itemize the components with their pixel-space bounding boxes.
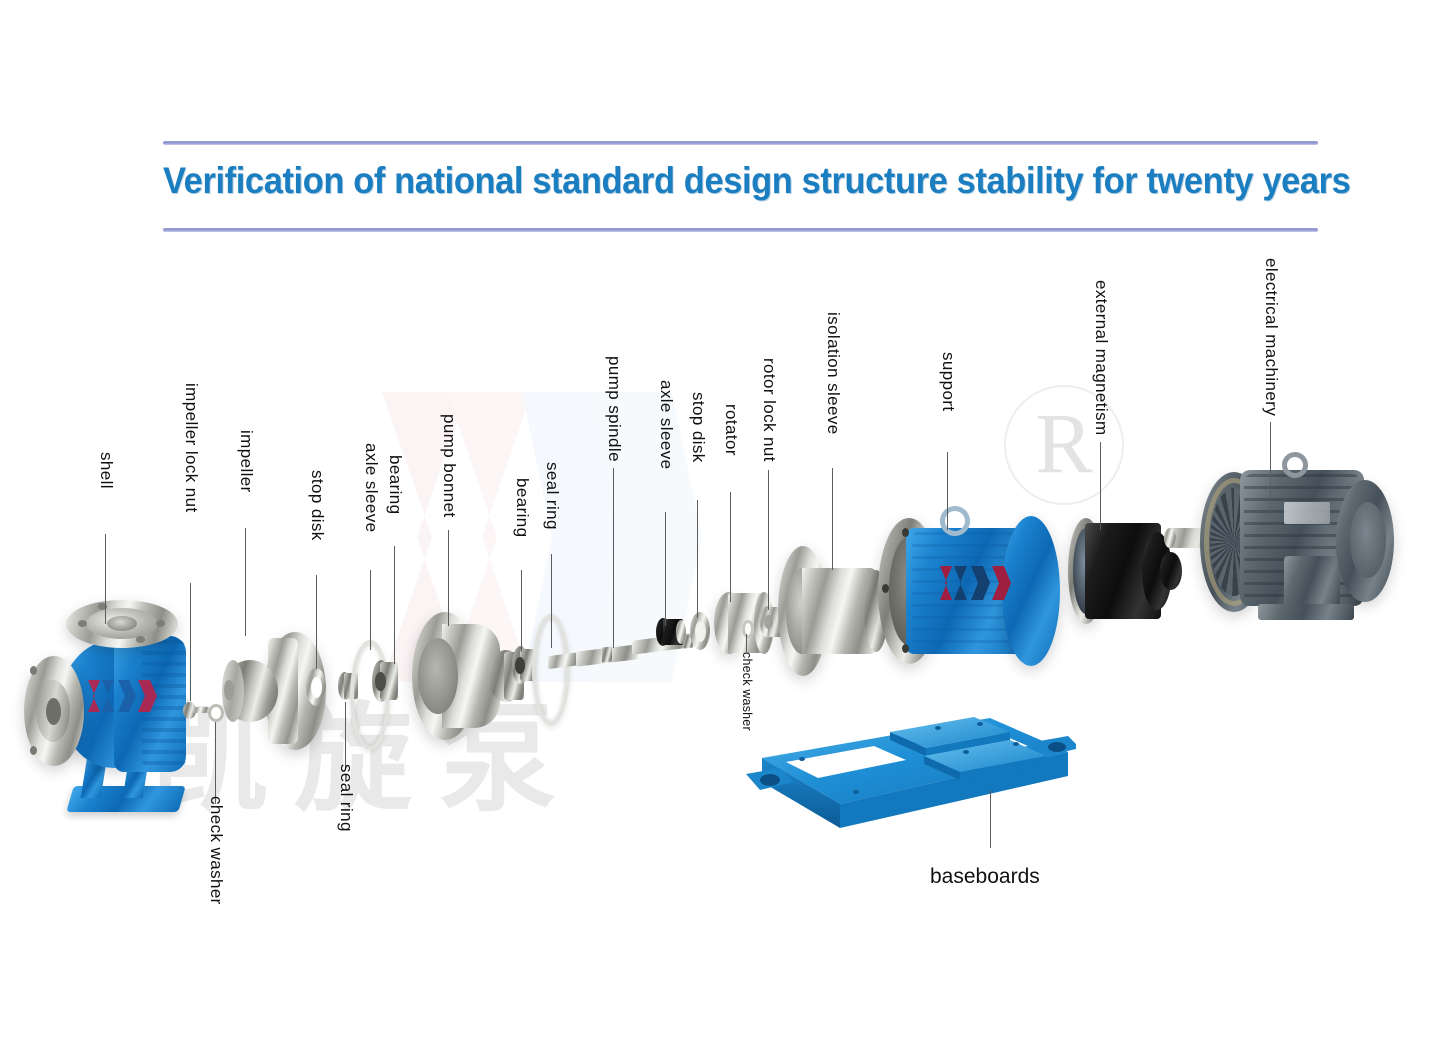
- title-rule-top: [163, 141, 1318, 145]
- leader-shell: [105, 534, 106, 624]
- label-electrical-machinery: electrical machinery: [1261, 258, 1281, 416]
- label-seal-ring-left: axle sleeve: [361, 443, 381, 532]
- part-electrical-machinery: [1168, 444, 1398, 634]
- label-external-magnetism: external magnetism: [1091, 280, 1111, 436]
- label-rotator: rotator: [721, 404, 741, 456]
- leader-external-magnetism: [1100, 442, 1101, 530]
- part-stop-disk-mid: [690, 612, 712, 650]
- label-impeller-lock-nut: impeller lock nut: [181, 383, 201, 513]
- part-baseboards: [728, 712, 1076, 862]
- label-shell: shell: [96, 452, 116, 489]
- leader-check-washer-mid: [746, 634, 747, 652]
- part-stop-disk-left: [306, 668, 326, 706]
- leader-stop-disk-left: [316, 575, 317, 669]
- leader-axle-sleeve-left: [345, 702, 346, 770]
- part-check-washer-mid: [742, 620, 756, 638]
- label-axle-sleeve-left: seal ring: [336, 764, 356, 832]
- diagram-canvas: Verification of national standard design…: [0, 0, 1440, 1040]
- label-impeller: impeller: [236, 430, 256, 493]
- leader-isolation-sleeve: [832, 468, 833, 570]
- part-impeller-lock-nut: [183, 700, 209, 722]
- part-isolation-sleeve: [778, 546, 894, 676]
- part-shell: [22, 588, 207, 858]
- label-stop-disk-left: stop disk: [307, 470, 327, 541]
- label-pump-bonnet: pump bonnet: [439, 414, 459, 518]
- label-isolation-sleeve: isolation sleeve: [823, 312, 843, 435]
- label-pump-spindle: pump spindle: [604, 356, 624, 462]
- leader-electrical-machinery: [1270, 422, 1271, 514]
- part-bearing-left: [372, 660, 404, 702]
- label-axle-sleeve-mid: axle sleeve: [656, 380, 676, 469]
- leader-seal-ring-mid: [551, 554, 552, 648]
- leader-axle-sleeve-mid: [665, 512, 666, 626]
- kx-logo-shell: [84, 676, 160, 716]
- label-seal-ring-mid: seal ring: [542, 462, 562, 530]
- leader-bearing-mid: [521, 570, 522, 652]
- leader-support: [947, 452, 948, 530]
- leader-rotor-lock-nut: [768, 470, 769, 610]
- label-baseboards: baseboards: [930, 865, 1040, 889]
- title-rule-bottom: [163, 228, 1318, 232]
- leader-impeller-lock-nut: [190, 583, 191, 701]
- part-support: [878, 504, 1064, 674]
- leader-check-washer-left: [215, 722, 216, 804]
- kx-logo-support: [936, 562, 1014, 604]
- leader-pump-bonnet: [448, 530, 449, 626]
- label-stop-disk-mid: stop disk: [688, 392, 708, 463]
- label-bearing-mid: bearing: [512, 478, 532, 538]
- label-rotor-lock-nut: rotor lock nut: [759, 358, 779, 462]
- label-check-washer-left: check washer: [206, 796, 226, 905]
- label-bearing-left: bearing: [385, 455, 405, 515]
- leader-rotator: [730, 492, 731, 602]
- part-axle-sleeve-mid: [656, 618, 686, 648]
- leader-impeller: [245, 528, 246, 636]
- leader-seal-ring-left: [370, 570, 371, 650]
- leader-baseboards: [990, 790, 991, 848]
- leader-pump-spindle: [613, 468, 614, 648]
- leader-bearing-left: [394, 546, 395, 664]
- label-support: support: [938, 352, 958, 412]
- page-title: Verification of national standard design…: [163, 160, 1256, 202]
- label-check-washer-mid: check washer: [740, 652, 754, 731]
- leader-stop-disk-mid: [697, 500, 698, 618]
